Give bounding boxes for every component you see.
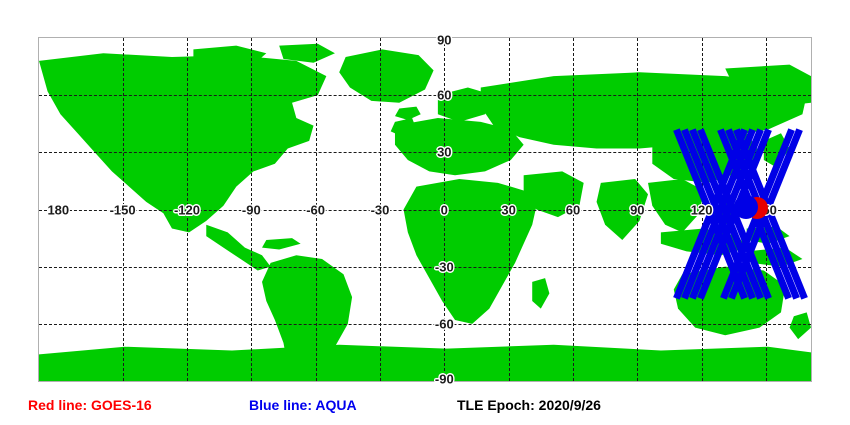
lon-label-30: 30: [501, 203, 515, 216]
lat-label-60: 60: [437, 89, 451, 102]
gridline-lat-60: [39, 95, 811, 96]
lat-label-minus90: -90: [435, 372, 454, 385]
lat-label-minus30: -30: [435, 260, 454, 273]
legend-red-line-goes16: Red line: GOES-16: [28, 397, 152, 413]
lon-label-90: 90: [630, 203, 644, 216]
legend-bar: Red line: GOES-16 Blue line: AQUA TLE Ep…: [0, 393, 850, 421]
legend-tle-epoch: TLE Epoch: 2020/9/26: [457, 397, 601, 413]
lat-label-minus60: -60: [435, 317, 454, 330]
legend-blue-line-aqua: Blue line: AQUA: [249, 397, 357, 413]
world-map-panel: 90 60 30 -30 -60 -90 -30 0 30 60 90 120 …: [38, 37, 812, 382]
lon-label-60: 60: [566, 203, 580, 216]
lon-label-minus90: -90: [242, 203, 261, 216]
lon-label-minus60: -60: [306, 203, 325, 216]
lon-label-0: 0: [441, 203, 448, 216]
lon-label-minus150: -150: [110, 203, 136, 216]
lon-label-minus30: -30: [371, 203, 390, 216]
lat-label-30: 30: [437, 146, 451, 159]
lon-label-180: 180: [47, 203, 69, 216]
aqua-position-marker: [734, 195, 758, 219]
gridline-lat-minus60: [39, 324, 811, 325]
lat-label-90: 90: [437, 33, 451, 46]
lon-label-120: 120: [691, 203, 713, 216]
lon-label-minus120: -120: [174, 203, 200, 216]
